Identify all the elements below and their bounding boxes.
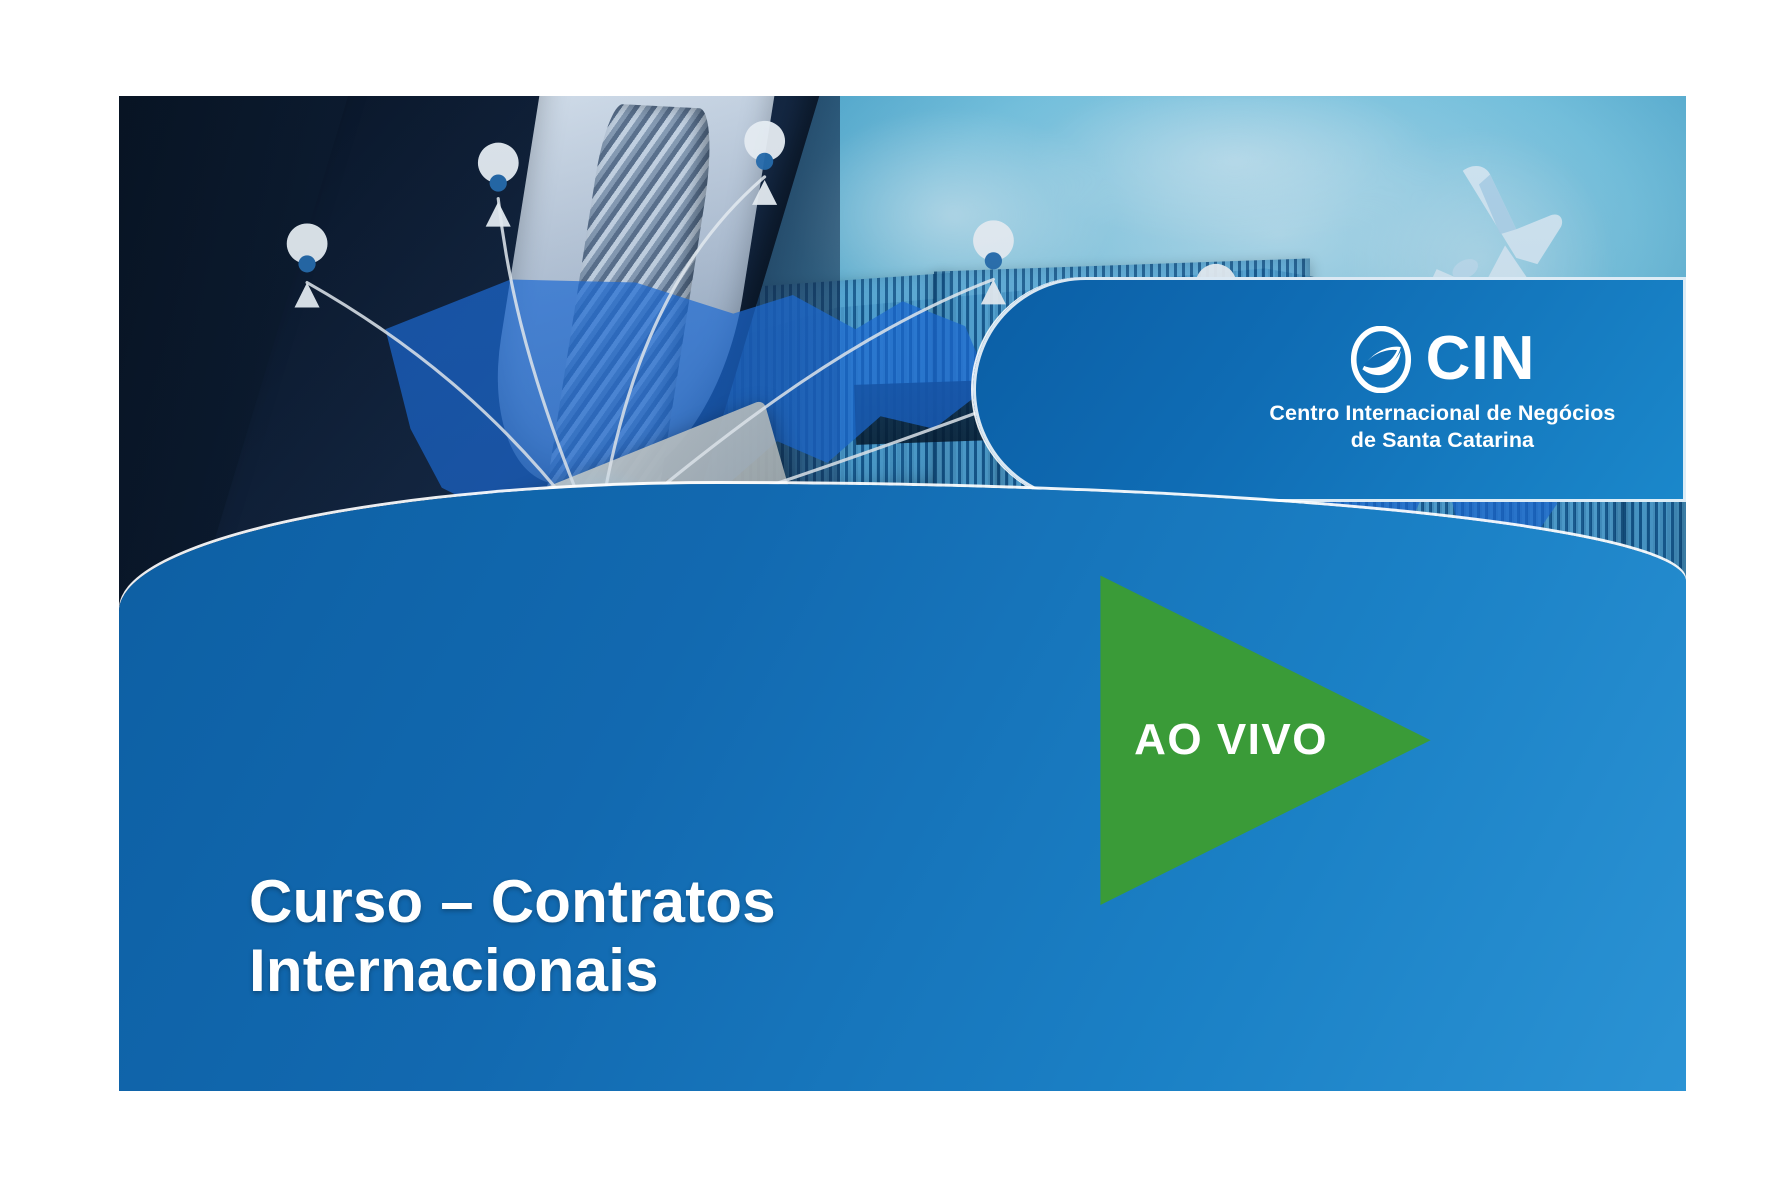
cin-globe-logo-icon [1350,326,1412,392]
course-title-line2: Internacionais [249,936,1127,1006]
cin-subtitle-line2: de Santa Catarina [1269,427,1615,453]
live-badge-label: AO VIVO [1134,715,1328,765]
course-promo-banner: CIN Centro Internacional de Negócios de … [119,96,1686,1091]
title-panel: Curso – Contratos Internacionais [119,484,1686,1091]
cin-logo-badge: CIN Centro Internacional de Negócios de … [973,277,1686,502]
cin-wordmark: CIN [1426,328,1536,390]
cin-subtitle: Centro Internacional de Negócios de Sant… [1269,400,1615,452]
course-title-line1: Curso – Contratos [249,867,1127,937]
cin-subtitle-line1: Centro Internacional de Negócios [1269,400,1615,426]
page-canvas: CIN Centro Internacional de Negócios de … [0,0,1772,1181]
course-title: Curso – Contratos Internacionais [249,867,1127,1006]
